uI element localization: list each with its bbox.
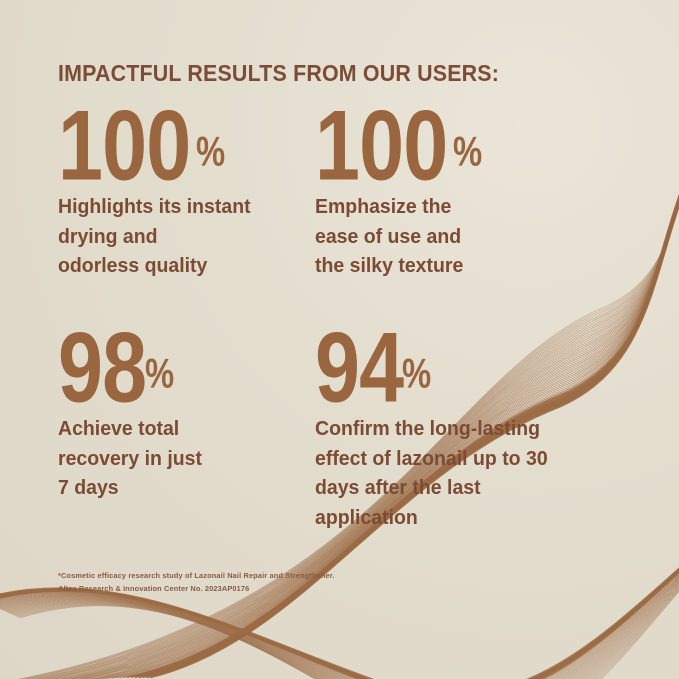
stat-value-row: 94 %: [315, 325, 605, 406]
stat-number: 100: [315, 103, 447, 189]
stat-item: 94 % Confirm the long-lasting effect of …: [315, 325, 605, 533]
stat-item: 100 % Emphasize the ease of use and the …: [315, 103, 585, 281]
stat-description: Confirm the long-lasting effect of lazon…: [315, 414, 591, 533]
stat-description: Emphasize the ease of use and the silky …: [315, 192, 572, 281]
stat-number: 100: [58, 103, 190, 189]
poster-content: IMPACTFUL RESULTS FROM OUR USERS: 100 % …: [0, 0, 679, 679]
stat-number: 98: [58, 325, 146, 411]
stat-number: 94: [315, 325, 403, 411]
stat-description: Highlights its instant drying and odorle…: [58, 192, 296, 281]
stat-percent-sign: %: [453, 134, 482, 170]
stat-item: 98 % Achieve total recovery in just 7 da…: [58, 325, 308, 503]
stat-item: 100 % Highlights its instant drying and …: [58, 103, 308, 281]
stat-value-row: 100 %: [315, 103, 585, 184]
poster-canvas: IMPACTFUL RESULTS FROM OUR USERS: 100 % …: [0, 0, 679, 679]
stat-value-row: 100 %: [58, 103, 308, 184]
stat-description: Achieve total recovery in just 7 days: [58, 414, 296, 503]
stat-value-row: 98 %: [58, 325, 308, 406]
stat-percent-sign: %: [145, 356, 174, 392]
page-title: IMPACTFUL RESULTS FROM OUR USERS:: [58, 60, 499, 87]
stat-percent-sign: %: [402, 356, 431, 392]
stat-percent-sign: %: [196, 134, 225, 170]
footnote-text: *Cosmetic efficacy research study of Laz…: [58, 570, 335, 595]
